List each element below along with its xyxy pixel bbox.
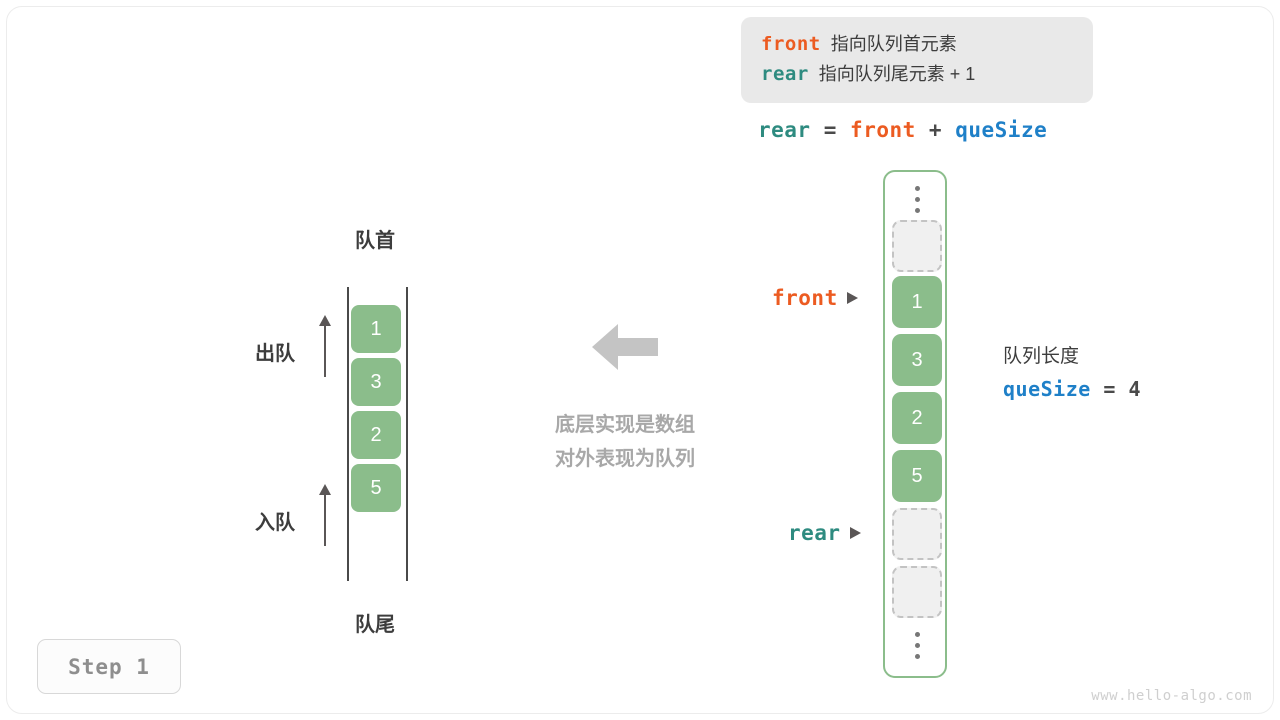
- quesize-equals: =: [1103, 377, 1116, 401]
- queue-cell: 1: [351, 305, 401, 353]
- legend-keyword-rear: rear: [761, 63, 809, 85]
- vertical-ellipsis-icon: [885, 184, 949, 217]
- legend-text-rear: 指向队列尾元素 + 1: [819, 64, 976, 84]
- queue-cell: 3: [351, 358, 401, 406]
- pointer-arrow-icon: [847, 292, 858, 304]
- legend-line-front: front 指向队列首元素: [761, 29, 1077, 59]
- queue-tail-label: 队尾: [300, 608, 450, 637]
- enqueue-arrow-icon: [318, 484, 332, 546]
- transform-caption: 底层实现是数组 对外表现为队列: [500, 408, 750, 476]
- array-slot-filled: 3: [892, 334, 942, 386]
- legend-text-front: 指向队列首元素: [831, 34, 957, 54]
- enqueue-label: 入队: [255, 506, 295, 535]
- step-badge: Step 1: [37, 639, 181, 694]
- front-pointer-label: front: [772, 286, 838, 310]
- rear-pointer: rear: [788, 521, 861, 545]
- arrow-left-icon: [592, 322, 658, 372]
- rear-formula: rear = front + queSize: [758, 118, 1047, 142]
- legend-line-rear: rear 指向队列尾元素 + 1: [761, 59, 1077, 89]
- formula-quesize: queSize: [955, 118, 1047, 142]
- caption-line-1: 底层实现是数组: [500, 408, 750, 442]
- array-slot-filled: 1: [892, 276, 942, 328]
- watermark: www.hello-algo.com: [1091, 688, 1252, 704]
- diagram-canvas: front 指向队列首元素 rear 指向队列尾元素 + 1 rear = fr…: [0, 0, 1280, 720]
- queue-rail-left: [347, 287, 349, 581]
- queue-cell: 2: [351, 411, 401, 459]
- array-slot-filled: 2: [892, 392, 942, 444]
- queue-size-expression: queSize = 4: [1003, 372, 1141, 406]
- pointer-arrow-icon: [850, 527, 861, 539]
- array-slot-filled: 5: [892, 450, 942, 502]
- quesize-variable: queSize: [1003, 377, 1091, 401]
- front-pointer: front: [772, 286, 858, 310]
- dequeue-arrow-icon: [318, 315, 332, 377]
- formula-plus: +: [929, 118, 942, 142]
- formula-equals: =: [824, 118, 837, 142]
- pointer-legend-box: front 指向队列首元素 rear 指向队列尾元素 + 1: [741, 17, 1093, 103]
- array-slot-empty: [892, 508, 942, 560]
- vertical-ellipsis-icon: [885, 630, 949, 663]
- queue-size-note: 队列长度 queSize = 4: [1003, 342, 1141, 406]
- caption-line-2: 对外表现为队列: [500, 442, 750, 476]
- formula-front: front: [850, 118, 916, 142]
- formula-lhs: rear: [758, 118, 811, 142]
- array-slot-empty: [892, 220, 942, 272]
- legend-keyword-front: front: [761, 33, 821, 55]
- queue-rail-right: [406, 287, 408, 581]
- array-slot-empty: [892, 566, 942, 618]
- queue-cell: 5: [351, 464, 401, 512]
- quesize-value: 4: [1128, 377, 1141, 401]
- queue-head-label: 队首: [300, 224, 450, 253]
- dequeue-label: 出队: [255, 337, 295, 366]
- rear-pointer-label: rear: [788, 521, 841, 545]
- array-container: 1 3 2 5: [883, 170, 947, 678]
- queue-size-title: 队列长度: [1003, 342, 1141, 372]
